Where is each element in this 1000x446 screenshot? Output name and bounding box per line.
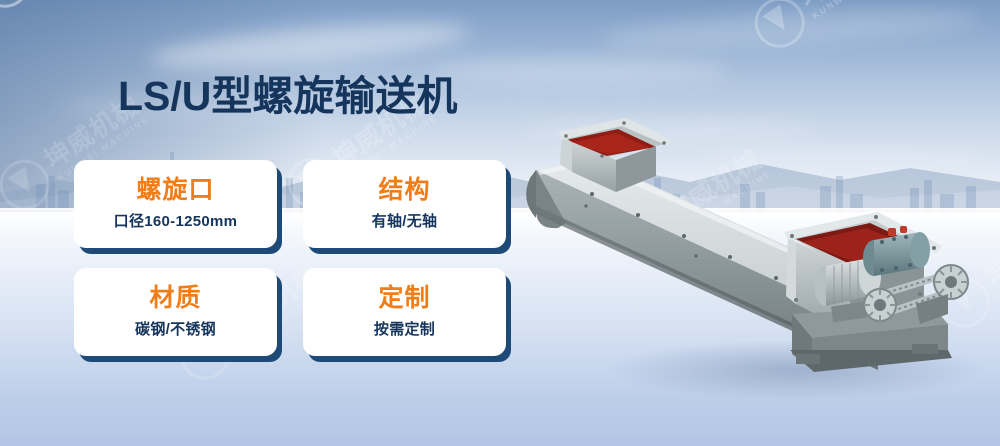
- feature-card-title: 材质: [149, 285, 201, 311]
- feature-card-customization[interactable]: 定制 按需定制: [303, 268, 506, 356]
- page-title: LS/U型螺旋输送机: [118, 76, 457, 117]
- feature-card-grid: 螺旋口 口径160-1250mm 结构 有轴/无轴 材质 碳钢/不锈钢 定制 按…: [74, 160, 524, 356]
- feature-card-title: 螺旋口: [136, 177, 214, 203]
- product-image-screw-conveyor: [496, 118, 1000, 418]
- feature-card-title: 结构: [378, 177, 430, 203]
- feature-card-row: 螺旋口 口径160-1250mm 结构 有轴/无轴: [74, 160, 524, 248]
- feature-card-subtitle: 碳钢/不锈钢: [135, 318, 216, 339]
- feature-card-subtitle: 按需定制: [374, 318, 435, 339]
- feature-card-subtitle: 有轴/无轴: [372, 210, 438, 231]
- feature-card-title: 定制: [378, 285, 430, 311]
- feature-card-structure[interactable]: 结构 有轴/无轴: [303, 160, 506, 248]
- feature-card-subtitle: 口径160-1250mm: [114, 210, 238, 231]
- product-banner: 坤威机械 KUNWEI MACHINE 坤威机械 KUNWEI MACHINE …: [0, 0, 1000, 446]
- cloud-decoration: [430, 58, 730, 84]
- feature-card-screw-port[interactable]: 螺旋口 口径160-1250mm: [74, 160, 277, 248]
- feature-card-row: 材质 碳钢/不锈钢 定制 按需定制: [74, 268, 524, 356]
- feature-card-material[interactable]: 材质 碳钢/不锈钢: [74, 268, 277, 356]
